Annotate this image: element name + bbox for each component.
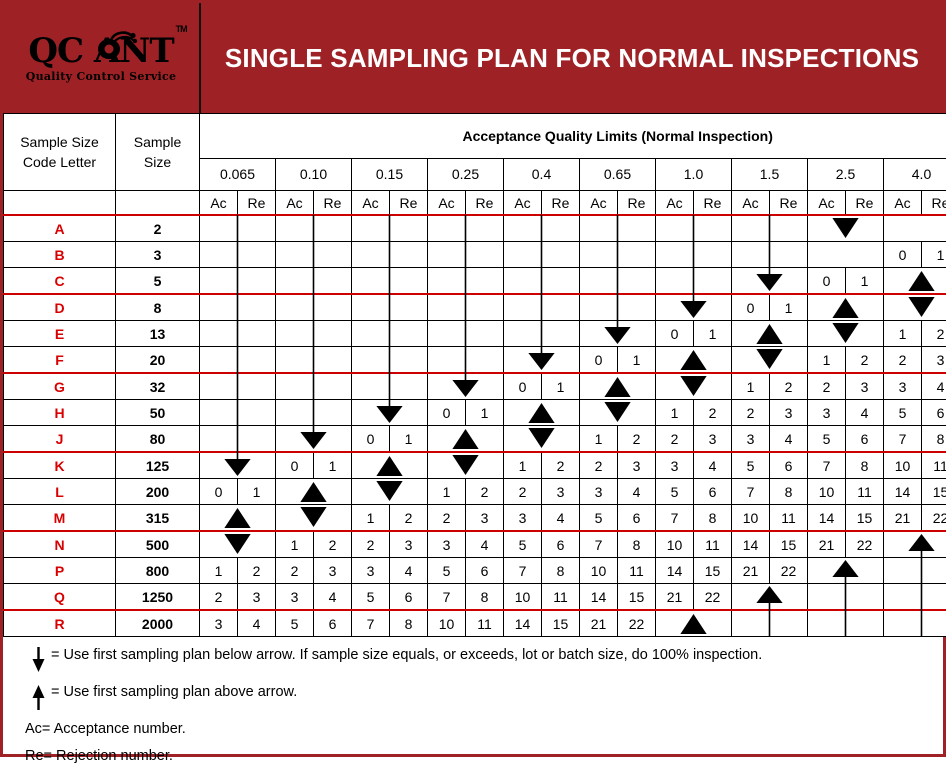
arrow-down-icon-J-0.4 bbox=[504, 426, 580, 453]
arrow-shaft-B-0.4 bbox=[504, 242, 580, 268]
ac-value-B-4.0: 0 bbox=[884, 242, 922, 268]
re-value-J-1.0: 3 bbox=[694, 426, 732, 453]
ac-value-J-0.65: 1 bbox=[580, 426, 618, 453]
single-sampling-plan-page: QC ANT TM Quality Control Service SINGLE… bbox=[0, 0, 946, 757]
row-sample-size-N: 500 bbox=[116, 531, 200, 558]
ac-value-R-0.65: 21 bbox=[580, 610, 618, 637]
re-value-M-4.0: 22 bbox=[922, 505, 946, 532]
ac-value-P-1.5: 21 bbox=[732, 558, 770, 584]
row-sample-size-A: 2 bbox=[116, 215, 200, 242]
arrow-shaft-B-0.65 bbox=[580, 242, 656, 268]
arrow-down-icon-L-0.15 bbox=[352, 479, 428, 505]
row-sample-size-Q: 1250 bbox=[116, 584, 200, 611]
re-value-M-0.25: 3 bbox=[466, 505, 504, 532]
re-value-L-0.25: 2 bbox=[466, 479, 504, 505]
aql-level-0.25: 0.25 bbox=[428, 158, 504, 190]
arrow-shaft-A-0.65 bbox=[580, 215, 656, 242]
ac-value-H-1.0: 1 bbox=[656, 400, 694, 426]
re-value-Q-0.10: 4 bbox=[314, 584, 352, 611]
arrow-down-icon-J-0.10 bbox=[276, 426, 352, 453]
ac-value-P-0.10: 2 bbox=[276, 558, 314, 584]
header-row-acre: AcReAcReAcReAcReAcReAcReAcReAcReAcReAcRe… bbox=[4, 191, 946, 216]
re-value-G-1.5: 2 bbox=[770, 373, 808, 400]
ac-value-Q-0.65: 14 bbox=[580, 584, 618, 611]
arrow-shaft-A-0.065 bbox=[200, 215, 276, 242]
row-sample-size-H: 50 bbox=[116, 400, 200, 426]
ac-value-P-1.0: 14 bbox=[656, 558, 694, 584]
re-value-Q-0.65: 15 bbox=[618, 584, 656, 611]
ac-value-Q-0.065: 2 bbox=[200, 584, 238, 611]
row-sample-size-E: 13 bbox=[116, 321, 200, 347]
arrow-shaft-B-0.25 bbox=[428, 242, 504, 268]
legend-re: Re= Rejection number. bbox=[25, 748, 943, 764]
re-value-N-0.10: 2 bbox=[314, 531, 352, 558]
table-row: A201 bbox=[4, 215, 946, 242]
re-value-Q-0.25: 8 bbox=[466, 584, 504, 611]
arrow-down-icon-N-0.065 bbox=[200, 531, 276, 558]
note-down-arrow-text: = Use first sampling plan below arrow. I… bbox=[51, 647, 762, 664]
arrow-shaft-C-0.10 bbox=[276, 268, 352, 295]
re-value-F-4.0: 3 bbox=[922, 347, 946, 374]
arrow-shaft-B-0.065 bbox=[200, 242, 276, 268]
aql-level-2.5: 2.5 bbox=[808, 158, 884, 190]
table-row: K12501122334567810111415 bbox=[4, 452, 946, 479]
arrow-up-icon-M-0.065 bbox=[200, 505, 276, 532]
table-row: M3151223345678101114152122 bbox=[4, 505, 946, 532]
row-code-letter-C: C bbox=[4, 268, 116, 295]
arrow-down-icon-G-1.0 bbox=[656, 373, 732, 400]
arrow-up-icon-L-0.10 bbox=[276, 479, 352, 505]
row-code-letter-K: K bbox=[4, 452, 116, 479]
re-value-J-0.65: 2 bbox=[618, 426, 656, 453]
re-value-R-0.15: 8 bbox=[390, 610, 428, 637]
header-row-aql: Sample Size Code Letter Sample Size Acce… bbox=[4, 114, 946, 159]
legend-ac: Ac= Acceptance number. bbox=[25, 721, 943, 737]
re-value-K-2.5: 8 bbox=[846, 452, 884, 479]
col-header-sample-size: Sample Size bbox=[116, 114, 200, 191]
re-value-N-2.5: 22 bbox=[846, 531, 884, 558]
re-value-H-1.5: 3 bbox=[770, 400, 808, 426]
table-row: H50011223345678 bbox=[4, 400, 946, 426]
re-value-D-1.5: 1 bbox=[770, 294, 808, 321]
ac-header-0.065: Ac bbox=[200, 191, 238, 216]
aql-level-0.065: 0.065 bbox=[200, 158, 276, 190]
arrow-down-icon bbox=[25, 647, 51, 673]
row-code-letter-M: M bbox=[4, 505, 116, 532]
ac-value-M-4.0: 21 bbox=[884, 505, 922, 532]
arrow-down-icon-H-0.15 bbox=[352, 400, 428, 426]
page-title: SINGLE SAMPLING PLAN FOR NORMAL INSPECTI… bbox=[225, 43, 919, 74]
note-up-arrow: = Use first sampling plan above arrow. bbox=[25, 684, 943, 710]
re-value-C-2.5: 1 bbox=[846, 268, 884, 295]
arrow-shaft-D-0.10 bbox=[276, 294, 352, 321]
sample-size-line1: Sample bbox=[116, 132, 199, 152]
arrow-shaft-C-0.065 bbox=[200, 268, 276, 295]
re-value-H-2.5: 4 bbox=[846, 400, 884, 426]
arrow-shaft-C-0.15 bbox=[352, 268, 428, 295]
ac-value-M-0.65: 5 bbox=[580, 505, 618, 532]
re-value-N-0.65: 8 bbox=[618, 531, 656, 558]
arrow-down-icon-E-2.5 bbox=[808, 321, 884, 347]
arrow-shaft-C-1.0 bbox=[656, 268, 732, 295]
spacer-size bbox=[116, 191, 200, 216]
arrow-shaft-R-2.5 bbox=[808, 610, 884, 637]
row-code-letter-L: L bbox=[4, 479, 116, 505]
re-header-0.065: Re bbox=[238, 191, 276, 216]
arrow-up-icon-C-4.0 bbox=[884, 268, 946, 295]
row-code-letter-N: N bbox=[4, 531, 116, 558]
ac-value-N-0.25: 3 bbox=[428, 531, 466, 558]
logo-tagline: Quality Control Service bbox=[26, 71, 177, 82]
arrow-shaft-F-0.25 bbox=[428, 347, 504, 374]
re-value-J-1.5: 4 bbox=[770, 426, 808, 453]
arrow-shaft-Q-4.0 bbox=[884, 584, 946, 611]
arrow-up-icon bbox=[25, 684, 51, 710]
re-value-N-0.4: 6 bbox=[542, 531, 580, 558]
table-row: D80112 bbox=[4, 294, 946, 321]
arrow-shaft-A-4.0 bbox=[884, 215, 946, 242]
ac-value-J-0.15: 0 bbox=[352, 426, 390, 453]
ac-header-0.25: Ac bbox=[428, 191, 466, 216]
re-header-0.65: Re bbox=[618, 191, 656, 216]
table-row: G320112233456 bbox=[4, 373, 946, 400]
ac-value-H-1.5: 2 bbox=[732, 400, 770, 426]
re-value-E-4.0: 2 bbox=[922, 321, 946, 347]
arrow-shaft-R-1.5 bbox=[732, 610, 808, 637]
ac-value-M-1.0: 7 bbox=[656, 505, 694, 532]
col-header-code-letter: Sample Size Code Letter bbox=[4, 114, 116, 191]
arrow-up-icon-J-0.25 bbox=[428, 426, 504, 453]
trademark-symbol: TM bbox=[176, 25, 187, 34]
arrow-shaft-F-0.10 bbox=[276, 347, 352, 374]
ac-header-4.0: Ac bbox=[884, 191, 922, 216]
table-row: B301 bbox=[4, 242, 946, 268]
re-value-J-0.15: 1 bbox=[390, 426, 428, 453]
row-sample-size-J: 80 bbox=[116, 426, 200, 453]
arrow-down-icon-D-1.0 bbox=[656, 294, 732, 321]
arrow-shaft-A-1.0 bbox=[656, 215, 732, 242]
re-header-0.15: Re bbox=[390, 191, 428, 216]
sample-size-line2: Size bbox=[116, 152, 199, 172]
note-down-arrow: = Use first sampling plan below arrow. I… bbox=[25, 647, 943, 673]
ac-value-P-0.25: 5 bbox=[428, 558, 466, 584]
re-value-P-0.15: 4 bbox=[390, 558, 428, 584]
table-row: R2000345678101114152122 bbox=[4, 610, 946, 637]
arrow-shaft-G-0.15 bbox=[352, 373, 428, 400]
row-code-letter-G: G bbox=[4, 373, 116, 400]
arrow-down-icon-K-0.25 bbox=[428, 452, 504, 479]
arrow-shaft-B-0.10 bbox=[276, 242, 352, 268]
ac-value-K-2.5: 7 bbox=[808, 452, 846, 479]
ac-value-G-4.0: 3 bbox=[884, 373, 922, 400]
arrow-shaft-A-0.15 bbox=[352, 215, 428, 242]
aql-level-1.0: 1.0 bbox=[656, 158, 732, 190]
table-row: J800112233456781011 bbox=[4, 426, 946, 453]
page-header: QC ANT TM Quality Control Service SINGLE… bbox=[3, 3, 943, 113]
ac-header-2.5: Ac bbox=[808, 191, 846, 216]
re-value-K-0.65: 3 bbox=[618, 452, 656, 479]
arrow-shaft-A-0.25 bbox=[428, 215, 504, 242]
re-value-L-2.5: 11 bbox=[846, 479, 884, 505]
table-row: L200011223345678101114152122 bbox=[4, 479, 946, 505]
arrow-shaft-G-0.10 bbox=[276, 373, 352, 400]
re-value-Q-1.0: 22 bbox=[694, 584, 732, 611]
code-letter-line2: Code Letter bbox=[4, 152, 115, 172]
ac-value-J-4.0: 7 bbox=[884, 426, 922, 453]
arrow-shaft-E-0.10 bbox=[276, 321, 352, 347]
arrow-shaft-D-0.15 bbox=[352, 294, 428, 321]
aql-level-0.10: 0.10 bbox=[276, 158, 352, 190]
row-sample-size-G: 32 bbox=[116, 373, 200, 400]
re-value-F-0.65: 1 bbox=[618, 347, 656, 374]
re-value-P-1.0: 15 bbox=[694, 558, 732, 584]
arrow-up-icon-E-1.5 bbox=[732, 321, 808, 347]
arrow-down-icon-M-0.10 bbox=[276, 505, 352, 532]
ac-value-R-0.25: 10 bbox=[428, 610, 466, 637]
re-value-L-0.4: 3 bbox=[542, 479, 580, 505]
re-value-P-0.065: 2 bbox=[238, 558, 276, 584]
ac-value-L-0.25: 1 bbox=[428, 479, 466, 505]
re-value-H-4.0: 6 bbox=[922, 400, 946, 426]
re-value-Q-0.15: 6 bbox=[390, 584, 428, 611]
arrow-shaft-A-0.10 bbox=[276, 215, 352, 242]
ac-value-K-0.4: 1 bbox=[504, 452, 542, 479]
arrow-shaft-D-0.4 bbox=[504, 294, 580, 321]
re-value-K-0.10: 1 bbox=[314, 452, 352, 479]
logo-main-text: QC ANT bbox=[28, 31, 173, 71]
re-value-M-1.0: 8 bbox=[694, 505, 732, 532]
arrow-down-icon-E-0.65 bbox=[580, 321, 656, 347]
arrow-up-icon-F-1.0 bbox=[656, 347, 732, 374]
aql-level-4.0: 4.0 bbox=[884, 158, 946, 190]
re-header-4.0: Re bbox=[922, 191, 946, 216]
ac-value-J-1.5: 3 bbox=[732, 426, 770, 453]
re-value-R-0.4: 15 bbox=[542, 610, 580, 637]
sampling-plan-table: Sample Size Code Letter Sample Size Acce… bbox=[3, 113, 946, 637]
arrow-shaft-C-0.25 bbox=[428, 268, 504, 295]
arrow-shaft-R-4.0 bbox=[884, 610, 946, 637]
ac-value-N-0.10: 1 bbox=[276, 531, 314, 558]
arrow-shaft-E-0.4 bbox=[504, 321, 580, 347]
re-header-0.25: Re bbox=[466, 191, 504, 216]
re-value-M-2.5: 15 bbox=[846, 505, 884, 532]
ac-value-M-0.25: 2 bbox=[428, 505, 466, 532]
arrow-down-icon-F-1.5 bbox=[732, 347, 808, 374]
re-header-2.5: Re bbox=[846, 191, 884, 216]
ac-value-K-1.5: 5 bbox=[732, 452, 770, 479]
ac-value-L-2.5: 10 bbox=[808, 479, 846, 505]
arrow-shaft-F-0.065 bbox=[200, 347, 276, 374]
ac-value-J-1.0: 2 bbox=[656, 426, 694, 453]
re-value-H-1.0: 2 bbox=[694, 400, 732, 426]
ac-value-H-0.25: 0 bbox=[428, 400, 466, 426]
arrow-shaft-E-0.15 bbox=[352, 321, 428, 347]
table-row: N5001223345678101114152122 bbox=[4, 531, 946, 558]
row-sample-size-P: 800 bbox=[116, 558, 200, 584]
arrow-down-icon-F-0.4 bbox=[504, 347, 580, 374]
ac-value-N-1.5: 14 bbox=[732, 531, 770, 558]
re-value-R-0.65: 22 bbox=[618, 610, 656, 637]
ac-value-F-0.65: 0 bbox=[580, 347, 618, 374]
ac-value-L-4.0: 14 bbox=[884, 479, 922, 505]
re-value-N-0.15: 3 bbox=[390, 531, 428, 558]
re-value-M-0.4: 4 bbox=[542, 505, 580, 532]
ac-header-0.65: Ac bbox=[580, 191, 618, 216]
aql-level-1.5: 1.5 bbox=[732, 158, 808, 190]
re-header-0.4: Re bbox=[542, 191, 580, 216]
row-sample-size-L: 200 bbox=[116, 479, 200, 505]
ac-value-Q-0.15: 5 bbox=[352, 584, 390, 611]
row-code-letter-H: H bbox=[4, 400, 116, 426]
table-row: Q125023345678101114152122 bbox=[4, 584, 946, 611]
arrow-up-icon-D-2.5 bbox=[808, 294, 884, 321]
ac-value-P-0.4: 7 bbox=[504, 558, 542, 584]
row-sample-size-M: 315 bbox=[116, 505, 200, 532]
ac-value-G-1.5: 1 bbox=[732, 373, 770, 400]
arrow-down-icon-A-2.5 bbox=[808, 215, 884, 242]
aql-group-header: Acceptance Quality Limits (Normal Inspec… bbox=[200, 114, 946, 159]
ac-value-H-2.5: 3 bbox=[808, 400, 846, 426]
re-header-0.10: Re bbox=[314, 191, 352, 216]
ac-value-L-0.65: 3 bbox=[580, 479, 618, 505]
arrow-shaft-A-0.4 bbox=[504, 215, 580, 242]
logo-text: QC ANT TM bbox=[28, 34, 173, 68]
ac-value-K-0.10: 0 bbox=[276, 452, 314, 479]
row-code-letter-A: A bbox=[4, 215, 116, 242]
arrow-down-icon-G-0.25 bbox=[428, 373, 504, 400]
ac-value-M-1.5: 10 bbox=[732, 505, 770, 532]
ac-value-L-1.5: 7 bbox=[732, 479, 770, 505]
re-value-R-0.25: 11 bbox=[466, 610, 504, 637]
re-value-Q-0.4: 11 bbox=[542, 584, 580, 611]
arrow-shaft-D-0.65 bbox=[580, 294, 656, 321]
ac-header-0.10: Ac bbox=[276, 191, 314, 216]
ac-value-N-0.4: 5 bbox=[504, 531, 542, 558]
arrow-up-icon-H-0.4 bbox=[504, 400, 580, 426]
arrow-shaft-A-1.5 bbox=[732, 215, 808, 242]
row-sample-size-D: 8 bbox=[116, 294, 200, 321]
row-code-letter-R: R bbox=[4, 610, 116, 637]
table-row: C501 bbox=[4, 268, 946, 295]
row-code-letter-F: F bbox=[4, 347, 116, 374]
ac-value-P-0.65: 10 bbox=[580, 558, 618, 584]
row-code-letter-B: B bbox=[4, 242, 116, 268]
re-value-M-0.15: 2 bbox=[390, 505, 428, 532]
re-value-G-4.0: 4 bbox=[922, 373, 946, 400]
ac-value-P-0.15: 3 bbox=[352, 558, 390, 584]
re-value-G-0.4: 1 bbox=[542, 373, 580, 400]
ac-value-G-2.5: 2 bbox=[808, 373, 846, 400]
arrow-shaft-P-4.0 bbox=[884, 558, 946, 584]
arrow-shaft-B-0.15 bbox=[352, 242, 428, 268]
note-up-arrow-text: = Use first sampling plan above arrow. bbox=[51, 684, 297, 701]
table-head: Sample Size Code Letter Sample Size Acce… bbox=[4, 114, 946, 216]
arrow-shaft-D-0.25 bbox=[428, 294, 504, 321]
re-value-L-4.0: 15 bbox=[922, 479, 946, 505]
re-value-K-1.5: 6 bbox=[770, 452, 808, 479]
row-code-letter-Q: Q bbox=[4, 584, 116, 611]
re-value-J-4.0: 8 bbox=[922, 426, 946, 453]
arrow-shaft-H-0.10 bbox=[276, 400, 352, 426]
aql-level-0.15: 0.15 bbox=[352, 158, 428, 190]
ac-value-P-0.065: 1 bbox=[200, 558, 238, 584]
ac-value-N-0.15: 2 bbox=[352, 531, 390, 558]
ac-value-M-0.15: 1 bbox=[352, 505, 390, 532]
ac-value-Q-0.4: 10 bbox=[504, 584, 542, 611]
re-value-B-4.0: 1 bbox=[922, 242, 946, 268]
row-sample-size-R: 2000 bbox=[116, 610, 200, 637]
ac-value-L-1.0: 5 bbox=[656, 479, 694, 505]
re-value-N-0.25: 4 bbox=[466, 531, 504, 558]
arrow-up-icon-N-4.0 bbox=[884, 531, 946, 558]
row-sample-size-B: 3 bbox=[116, 242, 200, 268]
re-value-P-0.25: 6 bbox=[466, 558, 504, 584]
ac-value-Q-0.10: 3 bbox=[276, 584, 314, 611]
arrow-shaft-G-0.065 bbox=[200, 373, 276, 400]
re-value-P-0.10: 3 bbox=[314, 558, 352, 584]
arrow-down-icon-H-0.65 bbox=[580, 400, 656, 426]
arrow-shaft-H-0.065 bbox=[200, 400, 276, 426]
arrow-shaft-B-1.0 bbox=[656, 242, 732, 268]
table-body: A201B301C501D80112E13011223F2001122334G3… bbox=[4, 215, 946, 637]
arrow-shaft-F-0.15 bbox=[352, 347, 428, 374]
re-value-L-1.5: 8 bbox=[770, 479, 808, 505]
ac-value-H-4.0: 5 bbox=[884, 400, 922, 426]
arrow-shaft-D-0.065 bbox=[200, 294, 276, 321]
arrow-down-icon-C-1.5 bbox=[732, 268, 808, 295]
re-value-P-0.4: 8 bbox=[542, 558, 580, 584]
re-value-F-2.5: 2 bbox=[846, 347, 884, 374]
arrow-shaft-B-1.5 bbox=[732, 242, 808, 268]
arrow-shaft-B-2.5 bbox=[808, 242, 884, 268]
ac-value-E-4.0: 1 bbox=[884, 321, 922, 347]
re-value-P-1.5: 22 bbox=[770, 558, 808, 584]
re-value-N-1.0: 11 bbox=[694, 531, 732, 558]
table-row: E13011223 bbox=[4, 321, 946, 347]
re-value-N-1.5: 15 bbox=[770, 531, 808, 558]
ac-value-Q-1.0: 21 bbox=[656, 584, 694, 611]
ac-value-J-2.5: 5 bbox=[808, 426, 846, 453]
re-value-G-2.5: 3 bbox=[846, 373, 884, 400]
ac-value-K-4.0: 10 bbox=[884, 452, 922, 479]
arrow-shaft-E-0.25 bbox=[428, 321, 504, 347]
ac-value-R-0.10: 5 bbox=[276, 610, 314, 637]
ac-value-K-0.65: 2 bbox=[580, 452, 618, 479]
arrow-up-icon-K-0.15 bbox=[352, 452, 428, 479]
arrow-up-icon-Q-1.5 bbox=[732, 584, 808, 611]
re-value-L-1.0: 6 bbox=[694, 479, 732, 505]
ac-value-Q-0.25: 7 bbox=[428, 584, 466, 611]
re-header-1.5: Re bbox=[770, 191, 808, 216]
re-value-J-2.5: 6 bbox=[846, 426, 884, 453]
ac-value-M-0.4: 3 bbox=[504, 505, 542, 532]
ac-value-M-2.5: 14 bbox=[808, 505, 846, 532]
re-value-Q-0.065: 3 bbox=[238, 584, 276, 611]
ac-value-R-0.15: 7 bbox=[352, 610, 390, 637]
ac-value-N-0.65: 7 bbox=[580, 531, 618, 558]
ac-value-F-4.0: 2 bbox=[884, 347, 922, 374]
code-letter-line1: Sample Size bbox=[4, 132, 115, 152]
ac-value-N-1.0: 10 bbox=[656, 531, 694, 558]
re-value-E-1.0: 1 bbox=[694, 321, 732, 347]
arrow-shaft-J-0.065 bbox=[200, 426, 276, 453]
re-header-1.0: Re bbox=[694, 191, 732, 216]
re-value-K-4.0: 11 bbox=[922, 452, 946, 479]
arrow-up-icon-G-0.65 bbox=[580, 373, 656, 400]
ac-value-C-2.5: 0 bbox=[808, 268, 846, 295]
re-value-M-1.5: 11 bbox=[770, 505, 808, 532]
footnotes: = Use first sampling plan below arrow. I… bbox=[3, 637, 943, 764]
